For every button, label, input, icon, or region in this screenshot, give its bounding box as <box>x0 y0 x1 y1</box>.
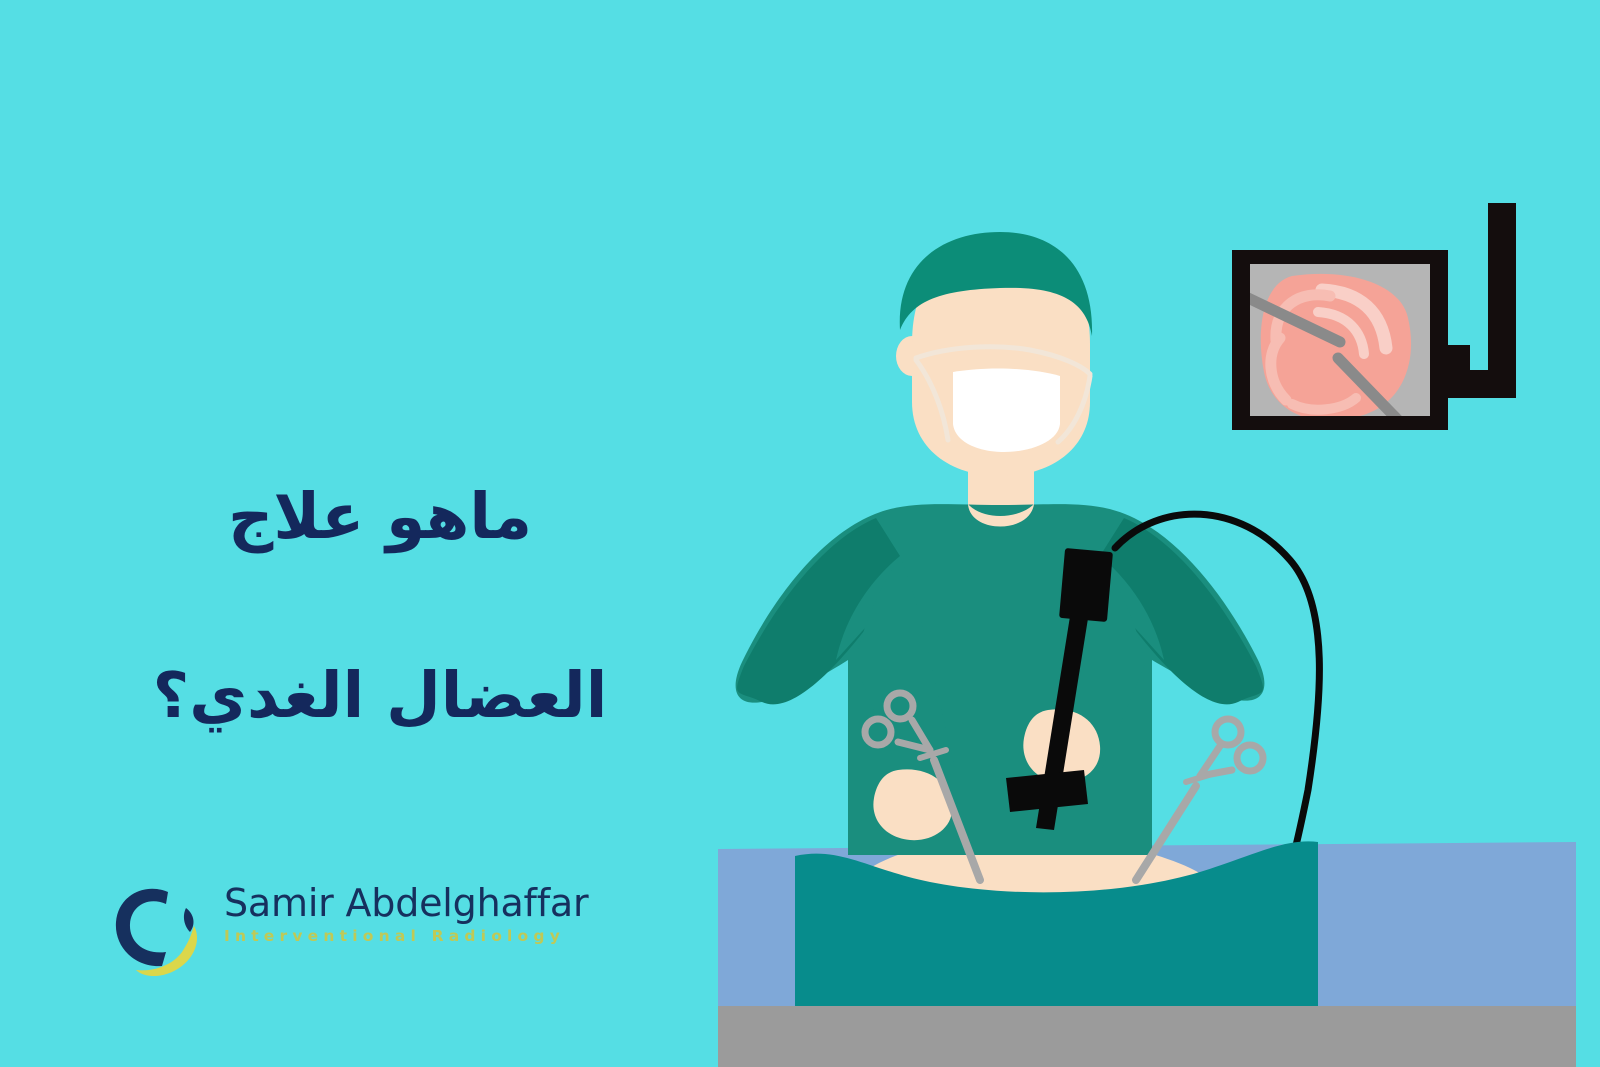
banner-canvas: ماهو علاج العضال الغدي؟ Samir Abdelghaff… <box>0 0 1600 1067</box>
logo-hook-shape <box>116 889 168 966</box>
logo-navy-drop <box>184 908 194 932</box>
logo-mark-icon <box>106 876 211 976</box>
logo-text-block: Samir Abdelghaffar Interventional Radiol… <box>224 884 574 945</box>
brand-logo[interactable]: Samir Abdelghaffar Interventional Radiol… <box>106 870 576 980</box>
face-mask <box>953 369 1060 452</box>
endoscopy-monitor <box>1232 250 1448 430</box>
headline-line-2: العضال الغدي؟ <box>60 651 700 740</box>
logo-subtitle: Interventional Radiology <box>224 927 574 945</box>
surgeon-head <box>896 232 1092 476</box>
logo-name: Samir Abdelghaffar <box>224 884 574 924</box>
headline: ماهو علاج العضال الغدي؟ <box>60 383 700 830</box>
headline-line-1: ماهو علاج <box>60 472 700 561</box>
table-base <box>718 1006 1576 1067</box>
